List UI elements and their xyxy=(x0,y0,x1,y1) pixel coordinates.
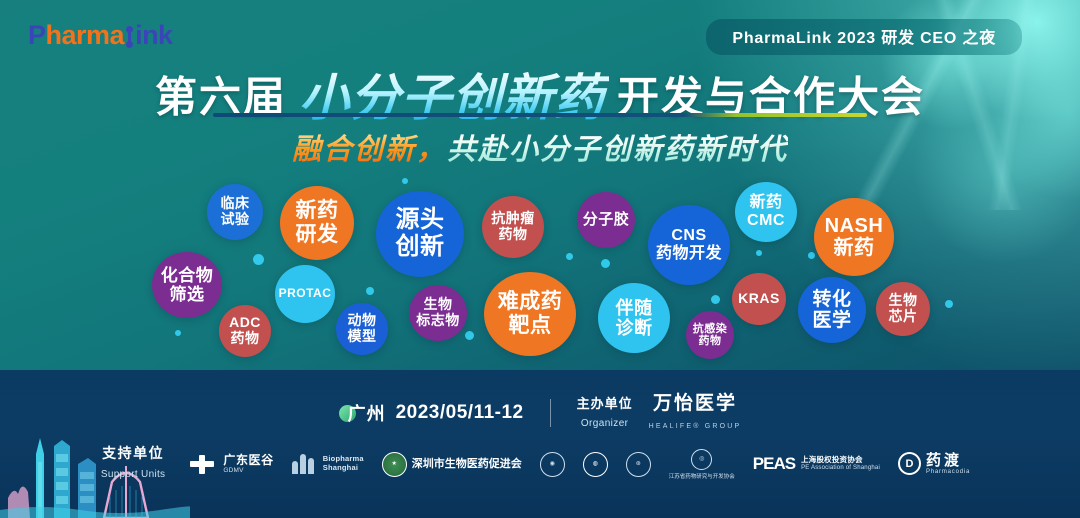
support-units-label-en: Support Units xyxy=(101,469,166,480)
topic-bubble[interactable]: 抗感染 药物 xyxy=(686,311,734,359)
decorative-dot xyxy=(402,178,408,184)
info-divider xyxy=(550,399,551,427)
institution-seal-icon-2: ◍ xyxy=(583,452,608,477)
support-units-label-cn: 支持单位 xyxy=(102,445,164,461)
topic-bubble[interactable]: PROTAC xyxy=(275,265,335,323)
decorative-dot xyxy=(175,330,181,336)
topic-bubble[interactable]: 抗肿瘤 药物 xyxy=(482,196,544,258)
topic-bubble[interactable]: 新药 CMC xyxy=(735,182,797,242)
sponsor-peas-cn: 上海股权投资协会 xyxy=(801,456,880,465)
sponsor-gdmv-cn: 广东医谷 xyxy=(223,453,273,467)
sponsor-jiangsu-cn: 江苏省药物研究与开发协会 xyxy=(669,472,735,480)
sponsor-biopharma-shanghai[interactable]: Biopharma Shanghai xyxy=(292,454,364,474)
sponsor-seal-2[interactable]: ◍ xyxy=(583,452,608,477)
topic-bubble[interactable]: NASH 新药 xyxy=(814,198,894,276)
decorative-dot xyxy=(566,253,573,260)
sponsor-seal-3[interactable]: ⊛ xyxy=(626,452,651,477)
peas-logo-icon: PEAS xyxy=(753,454,795,474)
sponsor-peas-en: PE Association of Shanghai xyxy=(801,465,880,472)
topic-bubble[interactable]: 伴随 诊断 xyxy=(598,283,670,353)
medical-cross-icon xyxy=(190,455,214,474)
topic-bubble[interactable]: CNS 药物开发 xyxy=(648,205,730,285)
decorative-dot xyxy=(711,295,720,304)
event-info-row: 广州 2023/05/11-12 主办单位 Organizer 万怡医学 HEA… xyxy=(0,394,1080,432)
organizer-label-cn: 主办单位 xyxy=(577,396,633,411)
topic-bubble[interactable]: 动物 模型 xyxy=(336,303,388,355)
sponsor-seal-1[interactable]: ◉ xyxy=(540,452,565,477)
sponsor-gdmv-en: GDMV xyxy=(223,467,273,475)
topic-bubble[interactable]: 临床 试验 xyxy=(207,184,263,240)
institution-seal-icon-3: ⊛ xyxy=(626,452,651,477)
topic-bubble[interactable]: 分子胶 xyxy=(577,192,635,248)
topic-bubble[interactable]: 生物 芯片 xyxy=(876,282,930,336)
sponsor-pharmacodia-en: Pharmacodia xyxy=(926,469,970,476)
institution-seal-icon-1: ◉ xyxy=(540,452,565,477)
organizer-brand[interactable]: 万怡医学 HEALIFE® GROUP xyxy=(649,394,742,432)
sponsor-pharmacodia-cn: 药渡 xyxy=(926,452,970,470)
shenzhen-seal-icon: ★ xyxy=(382,452,407,477)
topic-bubble[interactable]: 源头 创新 xyxy=(376,191,464,277)
sponsor-row: 支持单位 Support Units 广东医谷 GDMV Biopharma S… xyxy=(0,438,1080,490)
city-marker: 广州 xyxy=(339,400,386,426)
event-date: 2023/05/11-12 xyxy=(396,402,524,424)
decorative-dot xyxy=(253,254,264,265)
decorative-dot xyxy=(756,250,762,256)
topic-bubble[interactable]: ADC 药物 xyxy=(219,305,271,357)
sponsor-biopharma-en: Shanghai xyxy=(323,464,364,473)
topic-bubble[interactable]: KRAS xyxy=(732,273,786,325)
organizer-brand-cn: 万怡医学 xyxy=(653,393,737,414)
sponsor-shenzhen-bio[interactable]: ★ 深圳市生物医药促进会 xyxy=(382,452,522,477)
sponsor-peas[interactable]: PEAS 上海股权投资协会 PE Association of Shanghai xyxy=(753,454,880,474)
organizer-label: 主办单位 Organizer xyxy=(577,395,633,432)
decorative-dot xyxy=(465,331,474,340)
topic-bubble[interactable]: 生物 标志物 xyxy=(409,285,467,341)
towers-icon xyxy=(292,454,314,474)
topic-bubble[interactable]: 难成药 靶点 xyxy=(484,272,576,356)
decorative-dot xyxy=(808,252,815,259)
organizer-label-en: Organizer xyxy=(581,418,629,429)
topic-bubble-cloud: 化合物 筛选临床 试验ADC 药物新药 研发PROTAC动物 模型源头 创新生物… xyxy=(0,0,1080,372)
conference-poster: Pharmaink PharmaLink 2023 研发 CEO 之夜 第六届小… xyxy=(0,0,1080,518)
decorative-dot xyxy=(601,259,610,268)
pharmacodia-ring-icon: D xyxy=(898,452,921,475)
institution-seal-icon-4: ◎ xyxy=(691,449,712,470)
topic-bubble[interactable]: 新药 研发 xyxy=(280,186,354,260)
sponsor-shenzhen-cn: 深圳市生物医药促进会 xyxy=(412,458,522,471)
organizer-brand-en: HEALIFE® GROUP xyxy=(649,423,742,430)
sponsor-jiangsu-assoc[interactable]: ◎ 江苏省药物研究与开发协会 xyxy=(669,449,735,480)
topic-bubble[interactable]: 化合物 筛选 xyxy=(152,252,222,318)
topic-bubble[interactable]: 转化 医学 xyxy=(798,277,866,343)
decorative-dot xyxy=(366,287,374,295)
event-city: 广州 xyxy=(348,400,386,426)
decorative-dot xyxy=(945,300,953,308)
sponsor-pharmacodia[interactable]: D 药渡 Pharmacodia xyxy=(898,452,970,477)
support-units-label: 支持单位 Support Units xyxy=(101,445,166,482)
sponsor-gdmv[interactable]: 广东医谷 GDMV xyxy=(190,453,273,475)
